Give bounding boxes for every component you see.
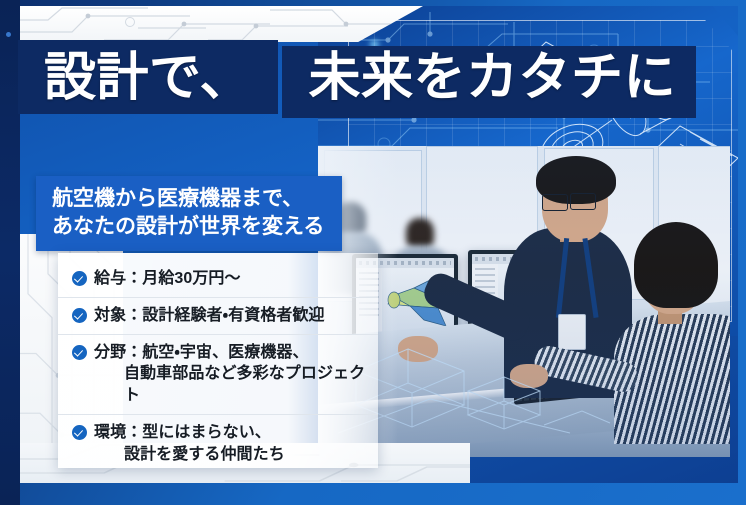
background-person-head bbox=[406, 218, 434, 248]
headline-line-1: 設計で、 bbox=[18, 40, 278, 114]
headline-block: 設計で、 未来をカタチに bbox=[18, 40, 696, 118]
list-item: 分野：航空・宇宙、医療機器、 自動車部品など多彩なプロジェクト bbox=[58, 335, 378, 415]
list-item: 対象：設計経験者・有資格者歓迎 bbox=[58, 298, 378, 335]
subheading-band: 航空機から医療機器まで、 あなたの設計が世界を変える bbox=[36, 176, 342, 251]
check-circle-icon bbox=[72, 425, 87, 440]
list-item: 環境：型にはまらない、 設計を愛する仲間たち bbox=[58, 415, 378, 473]
list-item: 給与：月給30万円～ bbox=[58, 261, 378, 298]
bullet-text-line-2: 自動車部品など多彩なプロジェクト bbox=[94, 363, 368, 407]
wireframe-box-overlay bbox=[338, 329, 618, 449]
check-circle-icon bbox=[72, 345, 87, 360]
subheading-line-2: あなたの設計が世界を変える bbox=[52, 213, 324, 241]
left-dark-border bbox=[0, 0, 20, 505]
subheading-line-1: 航空機から医療機器まで、 bbox=[52, 185, 324, 213]
person-female-engineer bbox=[606, 204, 730, 404]
top-circuit-strip bbox=[18, 6, 423, 42]
check-circle-icon bbox=[72, 308, 87, 323]
headline-line-2: 未来をカタチに bbox=[282, 46, 696, 118]
eyeglasses-right-lens bbox=[570, 193, 596, 210]
inner-panel: 設計で、 未来をカタチに 航空機から医療機器まで、 あなたの設計が世界を変える … bbox=[18, 6, 738, 483]
photo-two-engineers bbox=[318, 146, 730, 457]
recruitment-banner: 設計で、 未来をカタチに 航空機から医療機器まで、 あなたの設計が世界を変える … bbox=[0, 0, 746, 505]
bullet-text-line-1: 分野：航空・宇宙、医療機器、 bbox=[94, 344, 309, 361]
eyeglasses-left-lens bbox=[542, 194, 568, 211]
bullet-text-line-2: 設計を愛する仲間たち bbox=[94, 444, 285, 466]
bullet-text-line-1: 環境：型にはまらない、 bbox=[94, 424, 271, 441]
check-circle-icon bbox=[72, 271, 87, 286]
bullet-text: 分野：航空・宇宙、医療機器、 自動車部品など多彩なプロジェクト bbox=[94, 342, 368, 407]
female-hair bbox=[634, 222, 718, 308]
bullet-text: 対象：設計経験者・有資格者歓迎 bbox=[94, 305, 325, 327]
bullet-text: 給与：月給30万円～ bbox=[94, 268, 241, 290]
benefits-card: 給与：月給30万円～ 対象：設計経験者・有資格者歓迎 分野：航空・宇宙、医療機器… bbox=[58, 253, 378, 468]
bullet-text: 環境：型にはまらない、 設計を愛する仲間たち bbox=[94, 422, 285, 466]
accent-dot bbox=[6, 32, 11, 37]
